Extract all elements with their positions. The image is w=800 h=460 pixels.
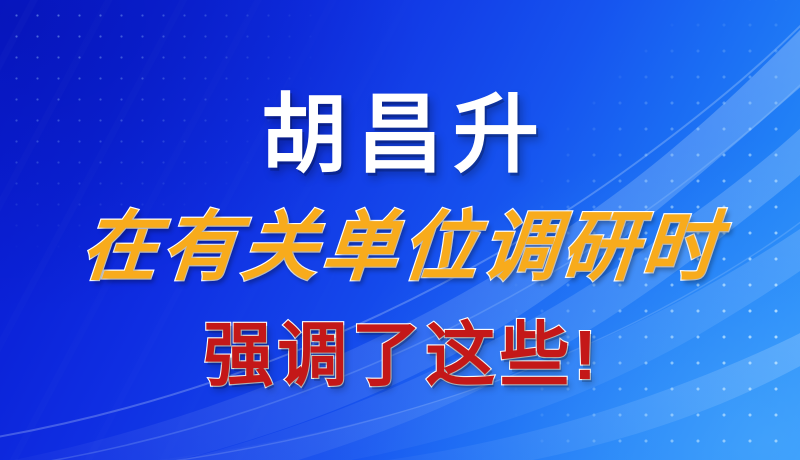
emphasis-headline: 强调了这些!: [0, 320, 800, 390]
person-name-title: 胡昌升: [0, 92, 800, 178]
subtitle-calligraphy: 在有关单位调研时: [0, 206, 800, 288]
banner-content: 胡昌升 在有关单位调研时 强调了这些!: [0, 0, 800, 460]
news-banner: 胡昌升 在有关单位调研时 强调了这些!: [0, 0, 800, 460]
